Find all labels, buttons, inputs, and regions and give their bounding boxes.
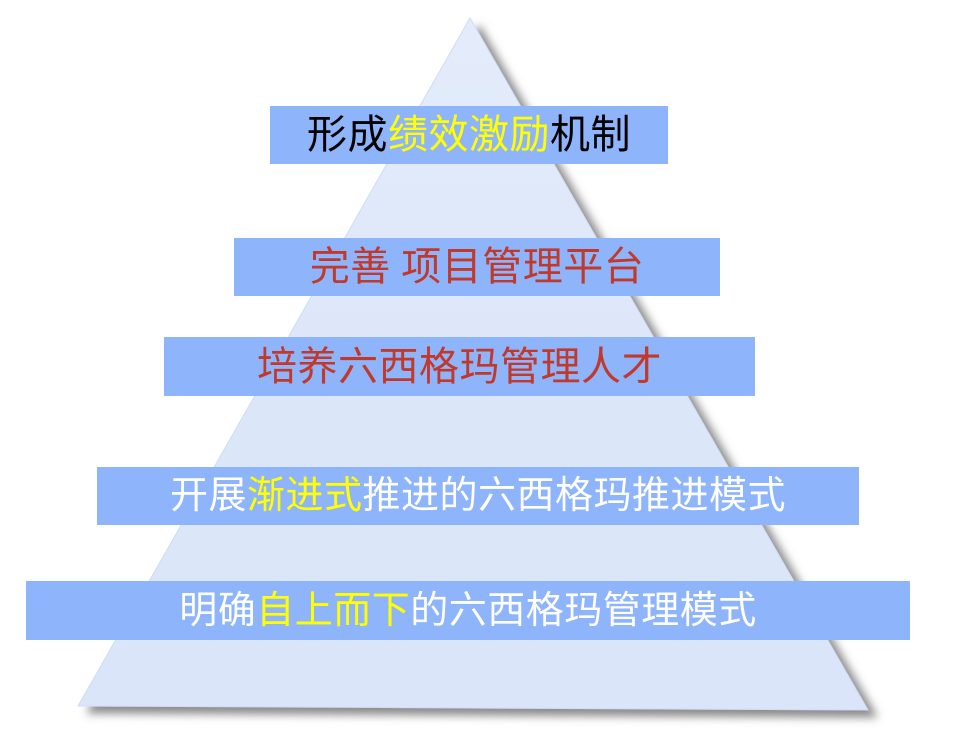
pyramid-band-level-1-text: 形成绩效激励机制: [307, 115, 631, 155]
slide-canvas: 形成绩效激励机制 完善 项目管理平台 培养六西格玛管理人才 开展渐进式推进的六西…: [0, 0, 956, 748]
pyramid-band-level-1[interactable]: 形成绩效激励机制: [270, 106, 668, 164]
band-5-segment-3: 的六西格玛管理模式: [410, 590, 757, 632]
band-5-segment-1: 明确: [179, 590, 256, 632]
pyramid-band-level-3-text: 培养六西格玛管理人才: [257, 347, 662, 387]
pyramid-band-level-5[interactable]: 明确自上而下的六西格玛管理模式: [26, 581, 910, 640]
pyramid-band-level-2-text: 完善 项目管理平台: [310, 247, 645, 287]
pyramid-band-level-3[interactable]: 培养六西格玛管理人才: [164, 337, 755, 396]
pyramid-band-level-5-text: 明确自上而下的六西格玛管理模式: [179, 592, 757, 630]
band-3-segment-1: 培养六西格玛管理人才: [257, 344, 662, 389]
pyramid-band-level-4-text: 开展渐进式推进的六西格玛推进模式: [170, 477, 786, 515]
band-1-segment-1: 形成: [307, 112, 388, 157]
band-1-segment-2: 绩效激励: [388, 112, 550, 157]
band-1-segment-3: 机制: [550, 112, 631, 157]
band-5-segment-2: 自上而下: [256, 590, 410, 632]
band-4-segment-2: 渐进式: [247, 475, 363, 517]
pyramid-band-level-4[interactable]: 开展渐进式推进的六西格玛推进模式: [97, 467, 859, 525]
pyramid-band-level-2[interactable]: 完善 项目管理平台: [234, 238, 720, 296]
band-2-segment-1: 完善 项目管理平台: [310, 244, 645, 289]
band-4-segment-3: 推进的六西格玛推进模式: [363, 475, 787, 517]
band-4-segment-1: 开展: [170, 475, 247, 517]
